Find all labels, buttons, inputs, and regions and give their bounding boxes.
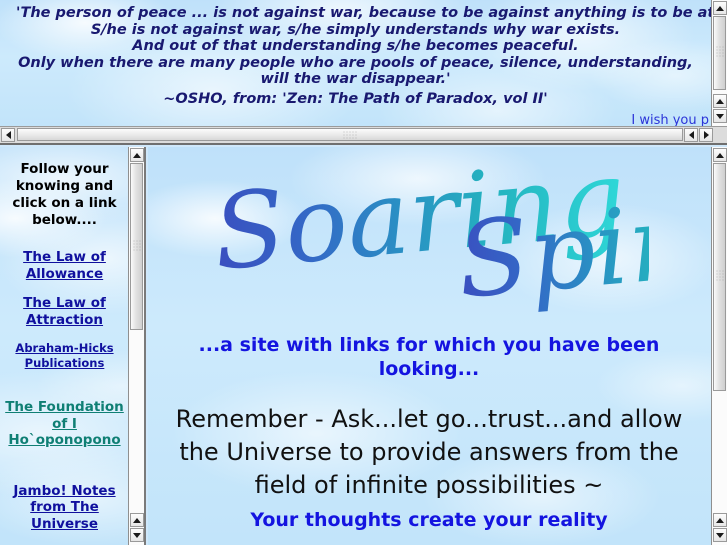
soaringspirit-logo-svg: Soaring Spirit (209, 147, 649, 333)
scroll-down-button[interactable] (713, 528, 727, 542)
spacer (0, 282, 129, 295)
main-vertical-scrollbar[interactable] (711, 147, 727, 545)
top-quote-frame: 'The person of peace ... is not against … (0, 0, 727, 126)
top-quote-content: 'The person of peace ... is not against … (0, 0, 711, 126)
scroll-up-arrow-icon (133, 153, 141, 158)
scrollbar-thumb[interactable] (130, 163, 143, 330)
top-frame-vertical-scrollbar[interactable] (711, 0, 727, 126)
scroll-right-button[interactable] (699, 128, 713, 142)
soaringspirit-logo: Soaring Spirit (148, 147, 710, 333)
scroll-left-button[interactable] (1, 128, 15, 142)
partial-next-line: Your thoughts create your reality (148, 502, 710, 532)
sidebar-link-foundation-of-i-hooponopono[interactable]: The Foundation of I Ho`oponopono (0, 399, 129, 449)
sidebar-link-abraham-hicks-publications[interactable]: Abraham-Hicks Publications (0, 341, 129, 371)
scroll-right-arrow-icon (704, 131, 709, 139)
scroll-up-arrow-icon (716, 518, 724, 523)
scroll-down-button[interactable] (713, 109, 727, 123)
browser-page: 'The person of peace ... is not against … (0, 0, 727, 545)
spacer (0, 371, 129, 399)
wish-you-peace-text: I wish you p (0, 109, 711, 126)
scroll-up-arrow-icon (716, 6, 724, 11)
osho-quote-block: 'The person of peace ... is not against … (0, 0, 711, 109)
scroll-down-arrow-icon (716, 114, 724, 119)
sidebar-link-jambo-notes-from-the-universe[interactable]: Jambo! Notes from The Universe (0, 483, 129, 533)
main-frame: Soaring Spirit ...a site with links for … (148, 147, 727, 545)
sidebar-vertical-scrollbar[interactable] (128, 147, 144, 545)
scroll-left-button-secondary[interactable] (684, 128, 698, 142)
scroll-up-button[interactable] (130, 148, 144, 162)
scrollbar-grip-icon (716, 271, 723, 284)
scroll-left-arrow-icon (6, 131, 11, 139)
horizontal-scrollbar-thumb[interactable] (17, 128, 683, 141)
scrollbar-thumb[interactable] (713, 163, 726, 391)
scrollbar-grip-icon (716, 47, 723, 60)
scroll-up-button-secondary[interactable] (713, 513, 727, 527)
scroll-up-button[interactable] (713, 148, 727, 162)
scrollbar-grip-icon (133, 240, 140, 253)
spacer (0, 328, 129, 341)
quote-line-3: And out of that understanding s/he becom… (16, 38, 695, 55)
site-tagline: ...a site with links for which you have … (148, 333, 710, 381)
horizontal-scrollbar[interactable] (0, 126, 727, 145)
sidebar-link-law-of-attraction[interactable]: The Law of Attraction (0, 295, 129, 328)
scroll-up-arrow-icon (716, 153, 724, 158)
scroll-down-button[interactable] (130, 528, 144, 542)
spacer (0, 229, 129, 249)
scroll-up-button-secondary[interactable] (713, 94, 727, 108)
scrollbar-grip-icon (344, 131, 357, 138)
scroll-up-button[interactable] (713, 1, 727, 15)
scroll-left-arrow-icon (689, 131, 694, 139)
sidebar-heading: Follow your knowing and click on a link … (0, 147, 129, 229)
scroll-up-button-secondary[interactable] (130, 513, 144, 527)
sidebar-link-law-of-allowance[interactable]: The Law of Allowance (0, 249, 129, 282)
scroll-down-arrow-icon (133, 533, 141, 538)
scroll-up-arrow-icon (716, 99, 724, 104)
spacer (0, 449, 129, 483)
quote-line-4: Only when there are many people who are … (16, 55, 695, 88)
scroll-up-arrow-icon (133, 518, 141, 523)
scrollbar-thumb[interactable] (713, 16, 726, 90)
quote-line-2: S/he is not against war, s/he simply und… (16, 22, 695, 39)
scroll-down-arrow-icon (716, 533, 724, 538)
sidebar-links-panel: Follow your knowing and click on a link … (0, 147, 129, 545)
remember-message: Remember - Ask...let go...trust...and al… (148, 381, 710, 502)
main-content-panel: Soaring Spirit ...a site with links for … (148, 147, 710, 545)
quote-line-1: 'The person of peace ... is not against … (16, 5, 695, 22)
sidebar-frame: Follow your knowing and click on a link … (0, 147, 146, 545)
quote-attribution: ~OSHO, from: 'Zen: The Path of Paradox, … (16, 90, 695, 109)
lower-frameset: Follow your knowing and click on a link … (0, 147, 727, 545)
